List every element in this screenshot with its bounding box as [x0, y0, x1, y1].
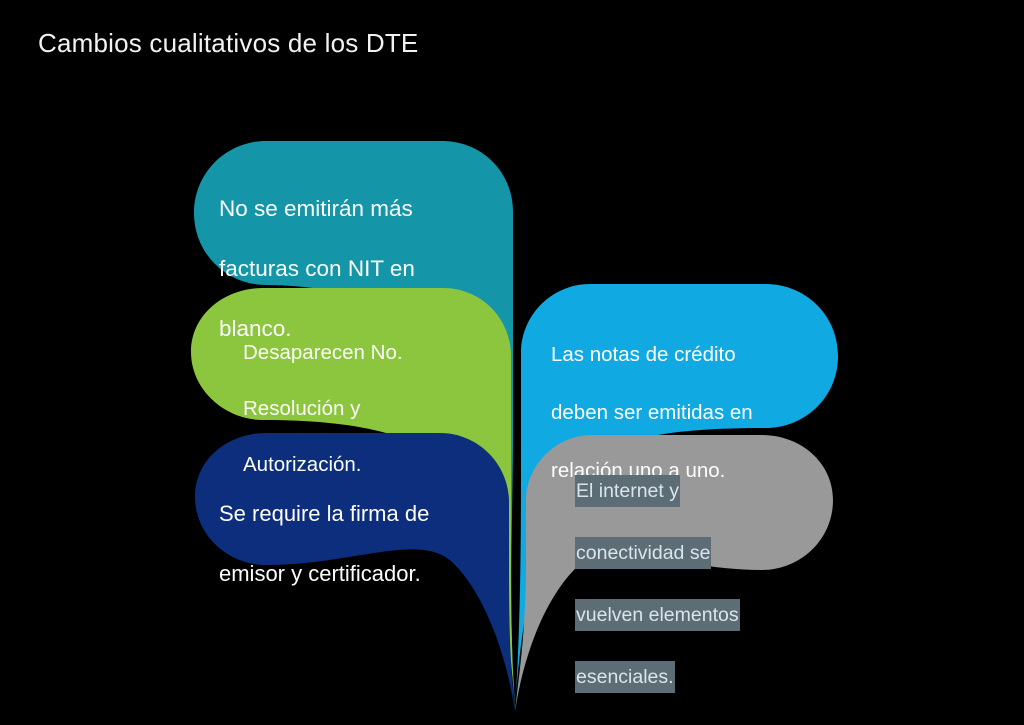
bubble-lightblue-line-2: deben ser emitidas en — [551, 398, 841, 427]
bubble-gray-line-3: vuelven elementos — [575, 599, 740, 631]
bubble-green-line-2: Resolución y — [243, 395, 513, 423]
bubble-gray-line-4: esenciales. — [575, 661, 675, 693]
bubble-navy-line-2: emisor y certificador. — [219, 559, 509, 589]
slide-canvas: Cambios cualitativos de los DTE No se em… — [0, 0, 1024, 725]
bubble-gray-label[interactable]: El internet y conectividad se vuelven el… — [575, 445, 825, 723]
bubble-lightblue-line-1: Las notas de crédito — [551, 340, 841, 369]
bubble-gray-line-1: El internet y — [575, 475, 680, 507]
bubble-green-line-1: Desaparecen No. — [243, 339, 513, 367]
bubble-teal-line-1: No se emitirán más — [219, 194, 509, 224]
bubble-navy-line-1: Se require la firma de — [219, 499, 509, 529]
bubble-gray-line-2: conectividad se — [575, 537, 711, 569]
bubble-teal-line-2: facturas con NIT en — [219, 254, 509, 284]
bubble-navy-label: Se require la firma de emisor y certific… — [219, 469, 509, 619]
